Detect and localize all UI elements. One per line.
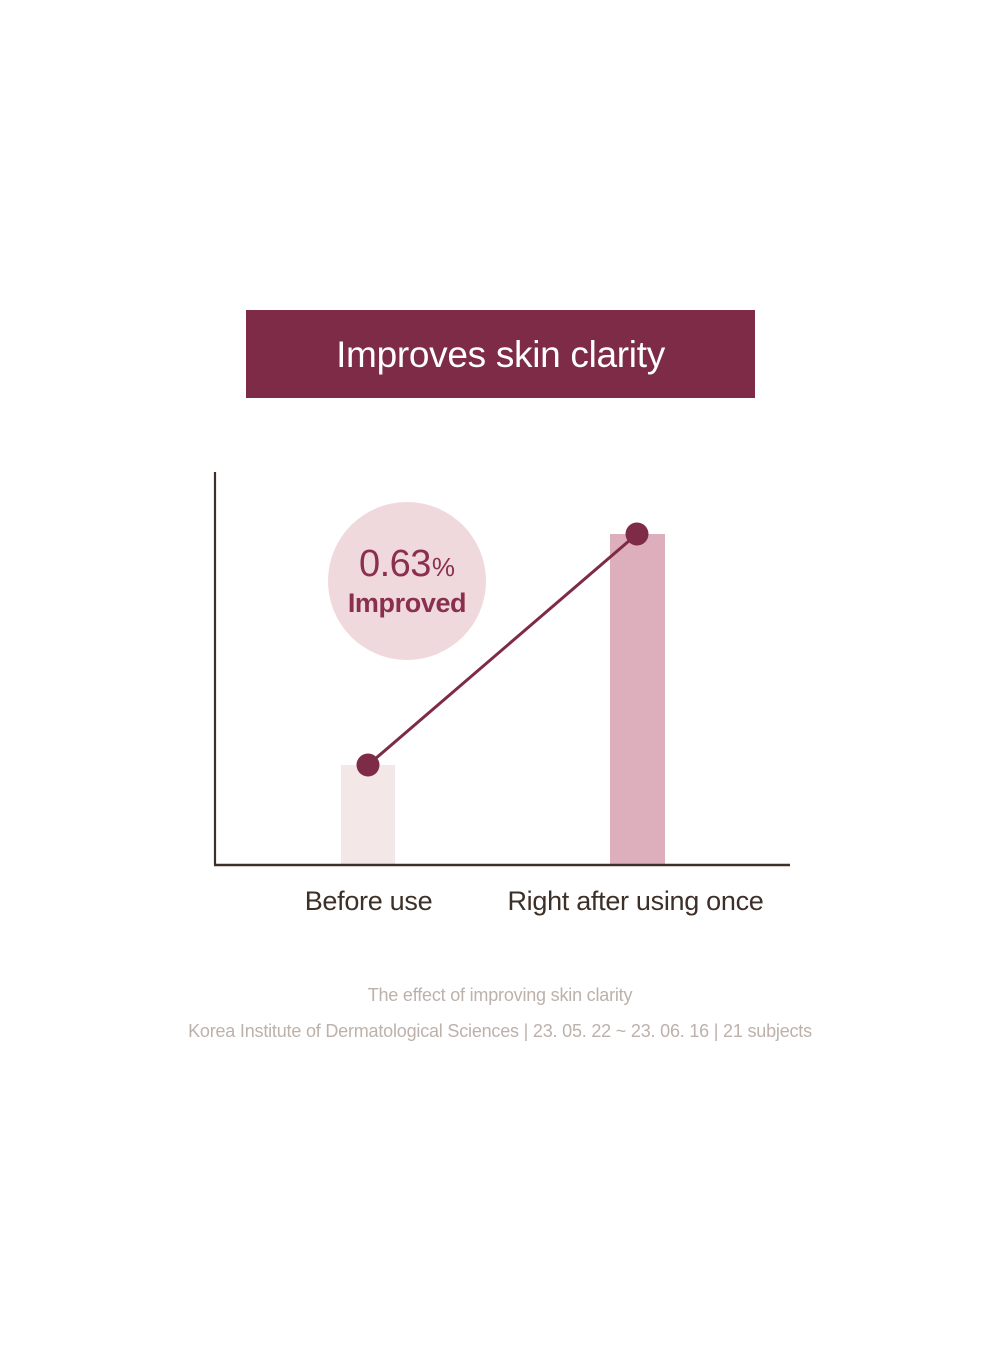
improvement-badge: 0.63 % Improved (328, 502, 486, 660)
infographic-canvas: Improves skin clarity 0.63 % Improved Be… (0, 0, 1000, 1360)
x-axis-label-right-after-using-once: Right after using once (482, 886, 789, 917)
badge-value: 0.63 (359, 545, 431, 583)
footnote-study-description: The effect of improving skin clarity (0, 986, 1000, 1004)
x-axis-label-before-use: Before use (291, 886, 446, 917)
badge-value-row: 0.63 % (359, 545, 455, 583)
chart-svg (0, 0, 1000, 1360)
badge-caption: Improved (348, 590, 466, 617)
bar-right-after-using-once (610, 534, 665, 865)
footnote: The effect of improving skin clarity Kor… (0, 986, 1000, 1040)
footnote-study-source: Korea Institute of Dermatological Scienc… (0, 1022, 1000, 1040)
data-point-marker-before-use (357, 754, 380, 777)
bar-before-use (341, 765, 395, 865)
bar-chart (0, 0, 1000, 1360)
data-point-marker-right-after-using-once (626, 523, 649, 546)
badge-unit: % (432, 554, 455, 580)
